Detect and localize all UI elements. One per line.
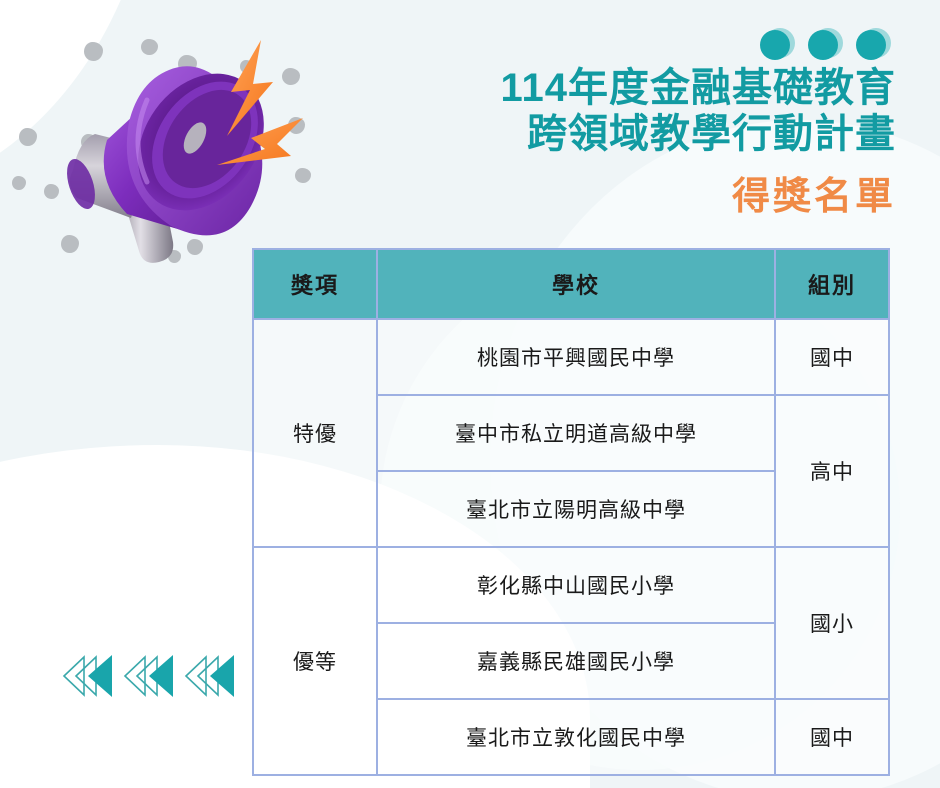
award-cell-excellent: 優等 [253,547,377,775]
school-cell: 桃園市平興國民中學 [377,319,775,395]
poster-root: 114年度金融基礎教育 跨領域教學行動計畫 得獎名單 [0,0,940,788]
school-cell: 臺中市私立明道高級中學 [377,395,775,471]
table-header-row: 獎項 學校 組別 [253,249,889,319]
group-cell: 高中 [775,395,889,547]
column-header-award: 獎項 [253,249,377,319]
group-cell: 國小 [775,547,889,699]
circle-decoration-group [760,28,890,62]
circle-front-icon [808,30,838,60]
circle-decoration [856,28,890,62]
circle-front-icon [856,30,886,60]
award-table: 獎項 學校 組別 特優 桃園市平興國民中學 國中 臺中市私立明道高級中學 高中 … [252,248,890,776]
award-table-body: 特優 桃園市平興國民中學 國中 臺中市私立明道高級中學 高中 臺北市立陽明高級中… [253,319,889,775]
chevron-decoration-group [58,652,238,700]
chevron-left-icon [58,652,116,700]
school-cell: 臺北市立陽明高級中學 [377,471,775,547]
school-cell: 彰化縣中山國民小學 [377,547,775,623]
megaphone-illustration [55,30,315,280]
school-cell: 嘉義縣民雄國民小學 [377,623,775,699]
school-cell: 臺北市立敦化國民中學 [377,699,775,775]
poster-title-line-1: 114年度金融基礎教育 [336,66,896,112]
circle-decoration [760,28,794,62]
group-cell: 國中 [775,699,889,775]
column-header-group: 組別 [775,249,889,319]
group-cell: 國中 [775,319,889,395]
award-table-head: 獎項 學校 組別 [253,249,889,319]
confetti-dot [12,176,26,190]
award-table-container: 獎項 學校 組別 特優 桃園市平興國民中學 國中 臺中市私立明道高級中學 高中 … [252,248,888,776]
poster-heading-block: 114年度金融基礎教育 跨領域教學行動計畫 得獎名單 [336,66,896,220]
table-row: 優等 彰化縣中山國民小學 國小 [253,547,889,623]
confetti-dot [19,128,37,146]
circle-decoration [808,28,842,62]
poster-title-line-2: 跨領域教學行動計畫 [336,112,896,158]
table-row: 特優 桃園市平興國民中學 國中 [253,319,889,395]
award-cell-special: 特優 [253,319,377,547]
chevron-left-icon [119,652,177,700]
chevron-left-icon [180,652,238,700]
column-header-school: 學校 [377,249,775,319]
poster-subtitle: 得獎名單 [336,165,896,220]
circle-front-icon [760,30,790,60]
